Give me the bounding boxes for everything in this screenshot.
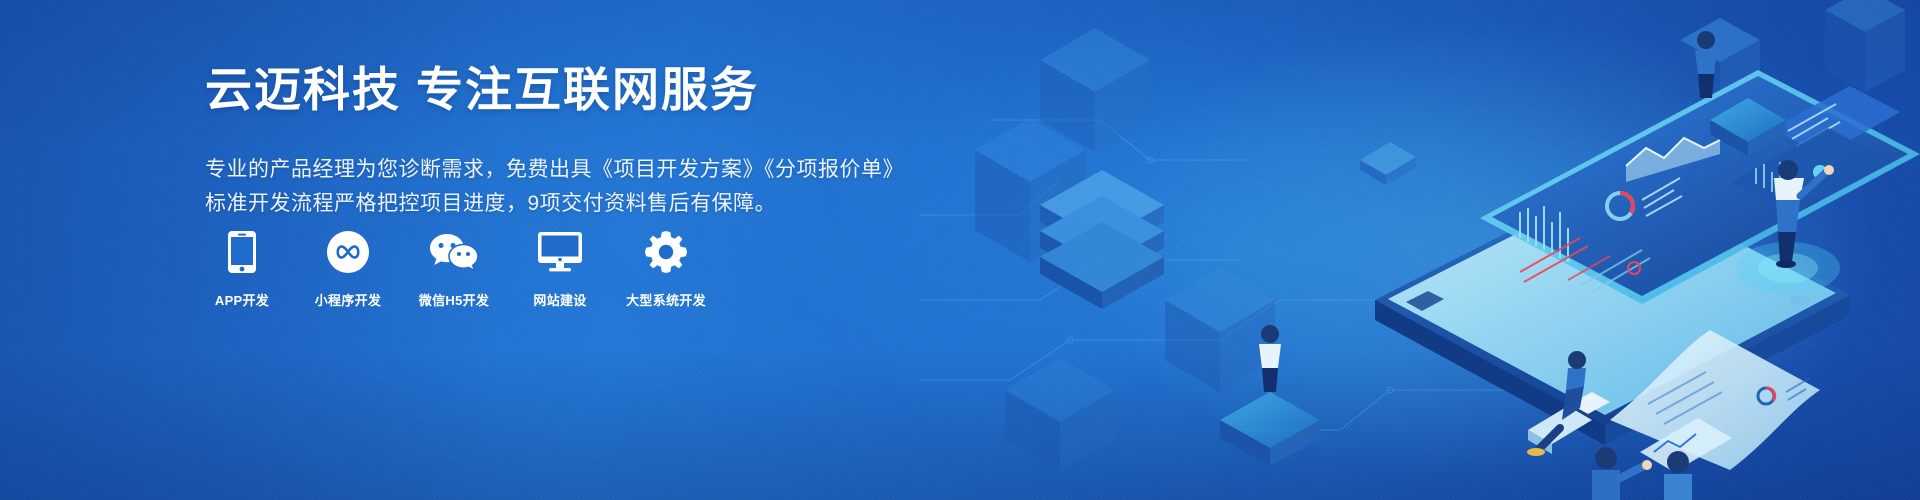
service-label: 微信H5开发 xyxy=(419,290,489,309)
service-item-website[interactable]: 网站建设 xyxy=(523,230,597,309)
subtitle-line-1: 专业的产品经理为您诊断需求，免费出具《项目开发方案》《分项报价单》 xyxy=(205,153,905,187)
service-icon-row: APP开发 小程序开发 微信 xyxy=(205,230,703,309)
page-title: 云迈科技 专注互联网服务 xyxy=(205,62,905,117)
gear-icon xyxy=(645,230,687,274)
mini-program-icon xyxy=(327,230,369,274)
wechat-icon xyxy=(429,230,479,274)
service-label: 网站建设 xyxy=(533,290,586,309)
subtitle-line-2: 标准开发流程严格把控项目进度，9项交付资料售后有保障。 xyxy=(205,187,905,221)
hero-subtitle: 专业的产品经理为您诊断需求，免费出具《项目开发方案》《分项报价单》 标准开发流程… xyxy=(205,153,905,221)
service-item-wechat-h5[interactable]: 微信H5开发 xyxy=(417,230,491,309)
service-label: 小程序开发 xyxy=(315,290,382,309)
service-label: 大型系统开发 xyxy=(626,290,706,309)
hero-copy: 云迈科技 专注互联网服务 专业的产品经理为您诊断需求，免费出具《项目开发方案》《… xyxy=(205,62,905,221)
service-label: APP开发 xyxy=(215,290,269,309)
service-item-app[interactable]: APP开发 xyxy=(205,230,279,309)
service-item-large-system[interactable]: 大型系统开发 xyxy=(629,230,703,309)
illustration-isometric-tech xyxy=(920,0,1920,500)
smartphone-icon xyxy=(228,230,256,274)
service-item-mini-program[interactable]: 小程序开发 xyxy=(311,230,385,309)
hero-banner: 云迈科技 专注互联网服务 专业的产品经理为您诊断需求，免费出具《项目开发方案》《… xyxy=(0,0,1920,500)
monitor-icon xyxy=(538,230,582,274)
